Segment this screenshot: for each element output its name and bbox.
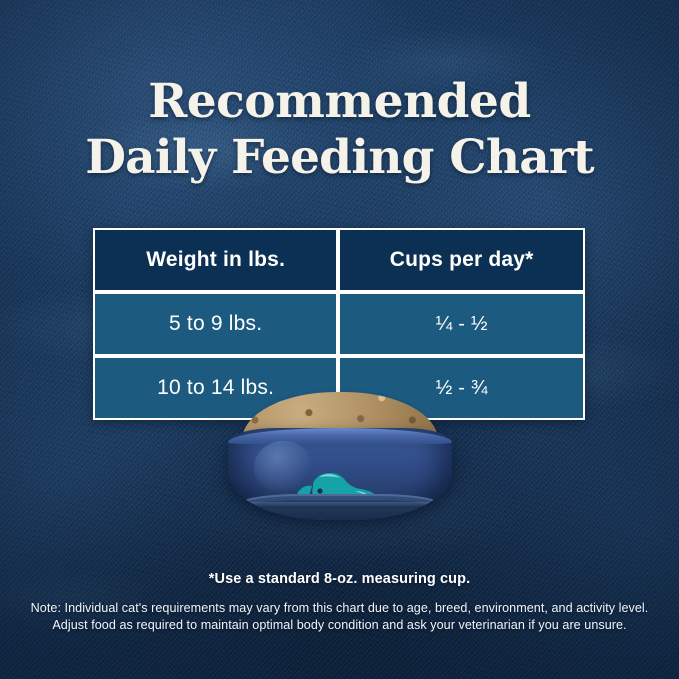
table-row: 5 to 9 lbs. ¼ - ½ <box>93 292 585 356</box>
product-bowl-image <box>0 392 679 542</box>
cell-weight-range: 5 to 9 lbs. <box>93 292 338 356</box>
measuring-cup-footnote: *Use a standard 8-oz. measuring cup. <box>0 571 679 587</box>
table-header-row: Weight in lbs. Cups per day* <box>93 228 585 292</box>
bowl-rim <box>228 428 452 444</box>
title-line-1: Recommended <box>0 74 679 130</box>
column-header-weight: Weight in lbs. <box>93 228 338 292</box>
disclaimer-line-2: Adjust food as required to maintain opti… <box>0 617 679 634</box>
feeding-chart-graphic: Recommended Daily Feeding Chart Weight i… <box>0 0 679 679</box>
column-header-cups: Cups per day* <box>338 228 585 292</box>
disclaimer-line-1: Note: Individual cat's requirements may … <box>0 600 679 617</box>
cell-cups-amount: ¼ - ½ <box>338 292 585 356</box>
bowl-base-ring <box>241 494 438 520</box>
disclaimer-note: Note: Individual cat's requirements may … <box>0 600 679 633</box>
page-title: Recommended Daily Feeding Chart <box>0 74 679 186</box>
title-line-2: Daily Feeding Chart <box>0 130 679 186</box>
dog-food-bowl <box>228 428 452 520</box>
